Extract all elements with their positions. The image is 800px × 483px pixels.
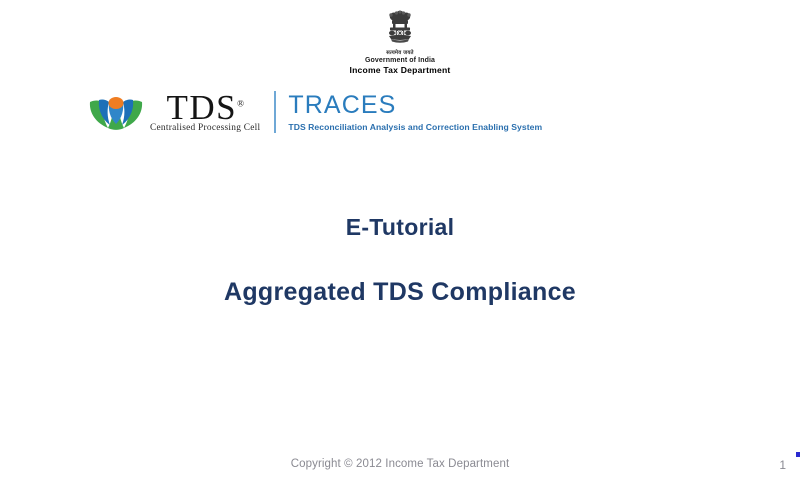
brand-divider <box>274 91 276 133</box>
tds-wordmark: TDS® Centralised Processing Cell <box>150 91 270 133</box>
government-of-india-label: Government of India <box>365 57 435 66</box>
traces-title: TRACES <box>288 92 542 118</box>
government-header: सत्यमेव जयते Government of India Income … <box>0 10 800 76</box>
income-tax-department-label: Income Tax Department <box>350 65 451 76</box>
tds-lotus-logo <box>88 93 144 131</box>
slide-canvas: सत्यमेव जयते Government of India Income … <box>0 0 800 483</box>
footer-page-number: 1 <box>779 458 786 472</box>
title-block: E-Tutorial Aggregated TDS Compliance <box>0 214 800 307</box>
ashoka-lion-capital-emblem <box>383 10 417 50</box>
page-title: E-Tutorial <box>0 214 800 242</box>
tds-trademark-symbol: ® <box>237 98 244 108</box>
branding-bar: TDS® Centralised Processing Cell TRACES … <box>88 88 542 136</box>
traces-wordmark: TRACES TDS Reconciliation Analysis and C… <box>288 92 542 131</box>
page-subtitle: Aggregated TDS Compliance <box>0 277 800 307</box>
traces-subtitle: TDS Reconciliation Analysis and Correcti… <box>288 122 542 132</box>
corner-marker <box>796 452 800 457</box>
tds-title: TDS® <box>166 91 243 124</box>
footer-copyright: Copyright © 2012 Income Tax Department <box>0 458 800 470</box>
tds-title-text: TDS <box>166 88 237 127</box>
